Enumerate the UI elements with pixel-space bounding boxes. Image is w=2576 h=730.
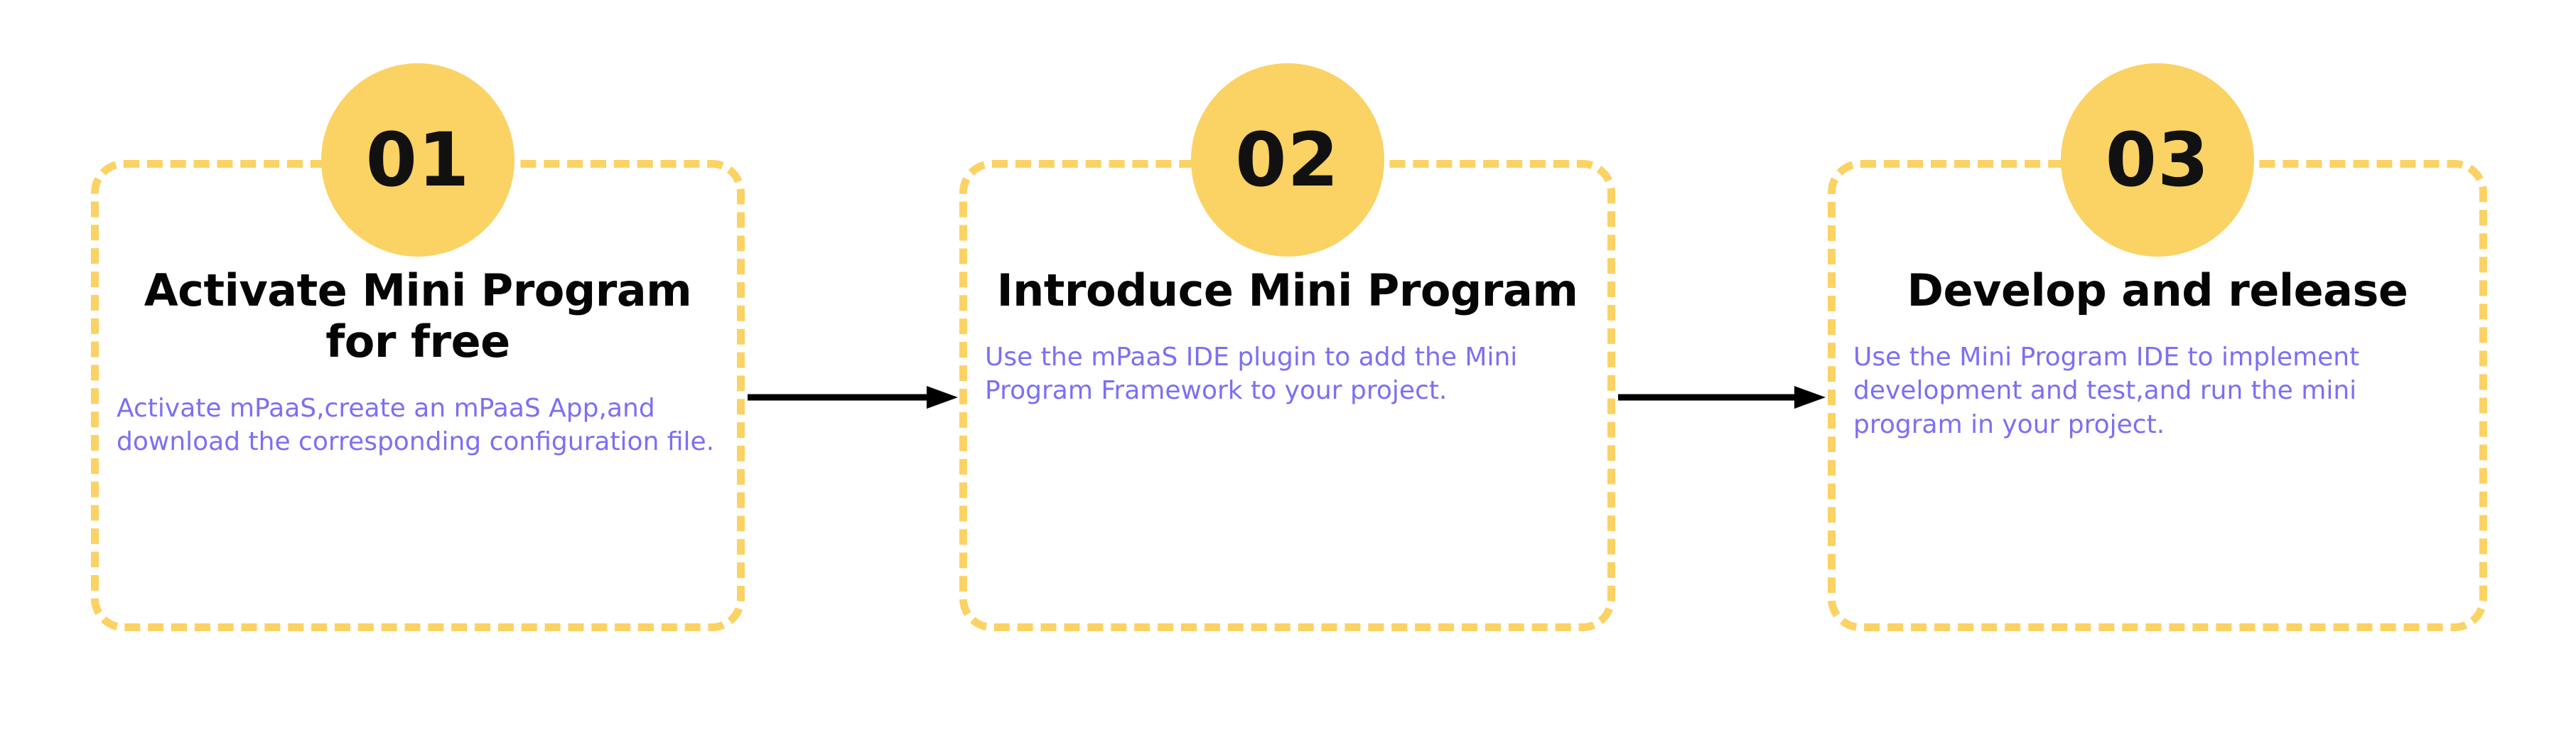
connector-arrow-1 [748, 383, 961, 412]
step-card-1-content: Activate Mini Program for free Activate … [117, 265, 719, 459]
step-number-label-3: 03 [2106, 123, 2210, 197]
process-flow-diagram: 01 Activate Mini Program for free Activa… [0, 0, 2576, 730]
step-number-label-2: 02 [1235, 123, 1340, 197]
connector-arrow-2 [1618, 383, 1828, 412]
step-title-3: Develop and release [1853, 265, 2462, 316]
step-card-1[interactable]: 01 Activate Mini Program for free Activa… [91, 160, 745, 631]
step-number-badge-1: 01 [321, 63, 514, 257]
arrow-right-icon [748, 383, 961, 412]
step-card-2-content: Introduce Mini Program Use the mPaaS IDE… [985, 265, 1590, 408]
step-number-badge-2: 02 [1191, 63, 1384, 257]
step-number-badge-3: 03 [2061, 63, 2254, 257]
step-card-2[interactable]: 02 Introduce Mini Program Use the mPaaS … [959, 160, 1615, 631]
step-title-1: Activate Mini Program for free [117, 265, 719, 367]
arrow-right-icon [1618, 383, 1828, 412]
step-card-3[interactable]: 03 Develop and release Use the Mini Prog… [1828, 160, 2487, 631]
step-description-3: Use the Mini Program IDE to implement de… [1853, 340, 2462, 442]
step-card-3-content: Develop and release Use the Mini Program… [1853, 265, 2462, 441]
step-description-2: Use the mPaaS IDE plugin to add the Mini… [985, 340, 1590, 408]
step-description-1: Activate mPaaS,create an mPaaS App,and d… [117, 392, 719, 459]
step-title-2: Introduce Mini Program [985, 265, 1590, 316]
step-number-label-1: 01 [366, 123, 470, 197]
